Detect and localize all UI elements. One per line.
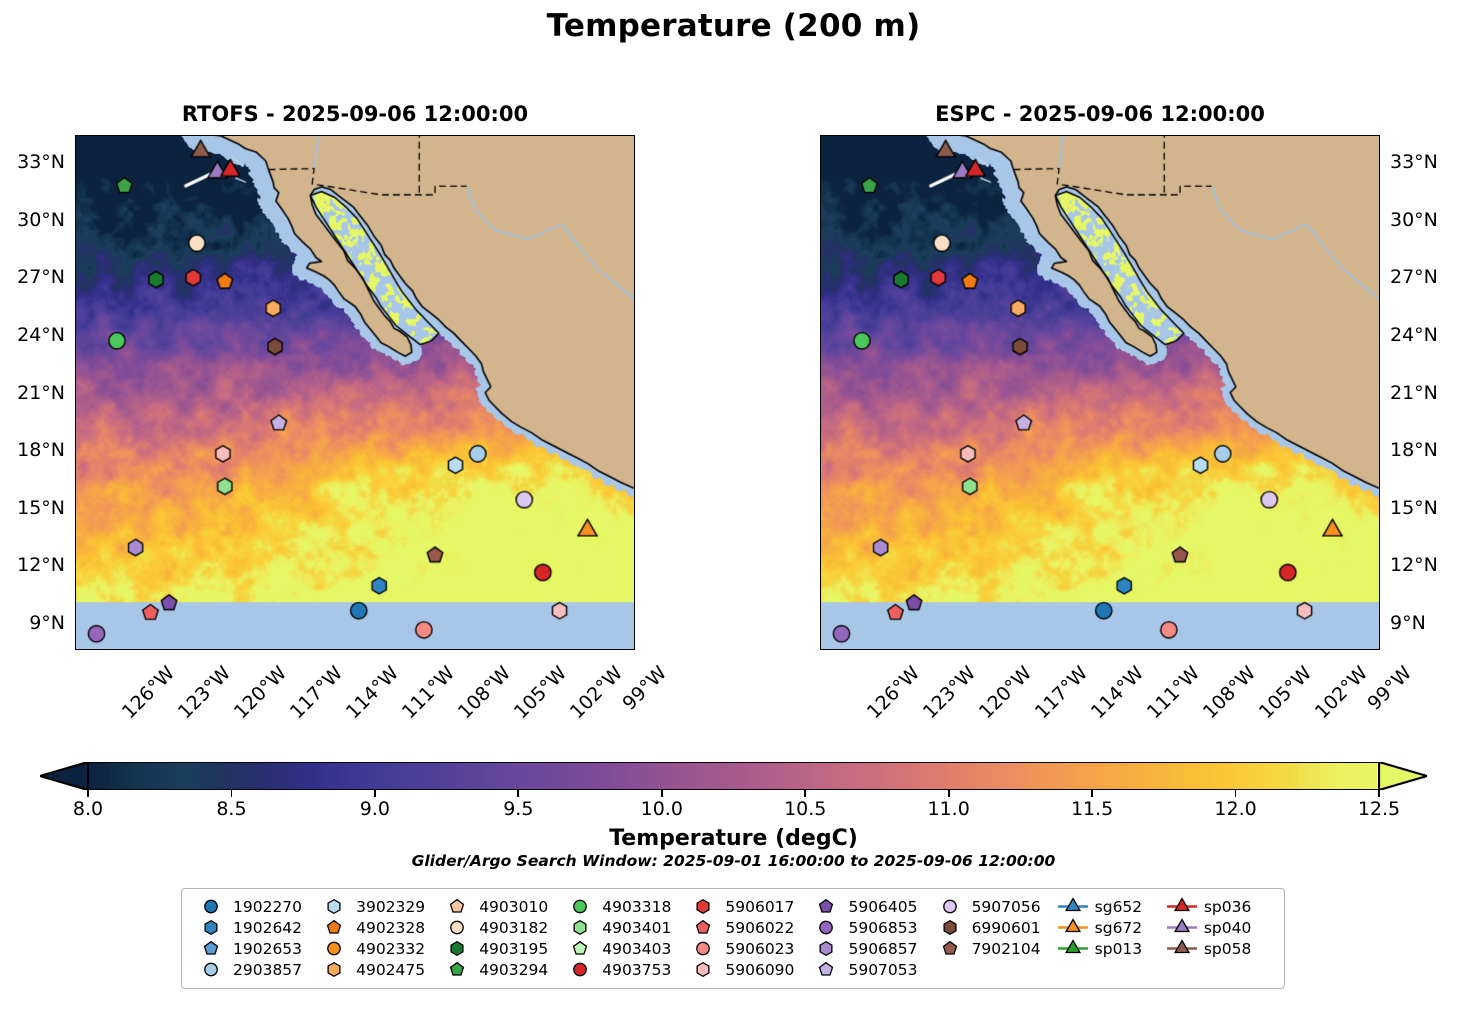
ytick-minor [634, 297, 635, 298]
ytick-major [1379, 393, 1380, 395]
ytick-major [634, 277, 635, 279]
circle-marker-icon [563, 959, 597, 980]
ytick-major [820, 623, 821, 625]
xtick-minor [477, 649, 478, 650]
xtick-minor [1035, 649, 1036, 650]
legend-item-5906017[interactable]: 5906017 [686, 896, 809, 917]
ytick-minor [820, 316, 821, 317]
colorbar: 8.08.59.09.510.010.511.011.512.012.5 Tem… [0, 762, 1467, 882]
xtick-minor [197, 649, 198, 650]
legend-item-5906853[interactable]: 5906853 [809, 917, 932, 938]
hexagon-marker-icon [686, 959, 720, 980]
legend-column: 3902329490232849023324902475 [317, 896, 440, 980]
legend-item-4903294[interactable]: 4903294 [440, 959, 563, 980]
ytick-label: 15°N [1390, 497, 1438, 519]
ytick-minor [820, 489, 821, 490]
legend-grid: 1902270190264219026532903857390232949023… [194, 896, 1274, 980]
ytick-minor [75, 374, 76, 375]
colorbar-tick-label: 11.5 [1071, 798, 1113, 820]
xtick-major [607, 649, 609, 650]
legend-label: 4902328 [351, 919, 425, 937]
map-espc-canvas [821, 136, 1379, 649]
xtick-major [439, 649, 441, 650]
triangle-line-marker-icon [1056, 896, 1090, 917]
xtick-minor [942, 649, 943, 650]
xtick-label: 105°W [1255, 662, 1316, 723]
ytick-major [1379, 277, 1380, 279]
xtick-major [159, 649, 161, 650]
triangle-line-marker-icon [1056, 938, 1090, 959]
triangle-line-marker-icon [1165, 896, 1199, 917]
ytick-minor [634, 316, 635, 317]
legend-column: 1902270190264219026532903857 [194, 896, 317, 980]
ytick-major [820, 508, 821, 510]
ytick-minor [75, 143, 76, 144]
ytick-major [75, 335, 76, 337]
legend-item-5906405[interactable]: 5906405 [809, 896, 932, 917]
legend-label: sp013 [1090, 940, 1143, 958]
legend-item-4902328[interactable]: 4902328 [317, 917, 440, 938]
legend-item-4902475[interactable]: 4902475 [317, 959, 440, 980]
map-rtofs-canvas [76, 136, 634, 649]
ytick-label: 12°N [1390, 554, 1438, 576]
ytick-major [820, 335, 821, 337]
legend-label: 4903195 [474, 940, 548, 958]
xtick-minor [1203, 649, 1204, 650]
colorbar-tick [804, 790, 806, 797]
hexagon-marker-icon [563, 917, 597, 938]
ytick-label: 33°N [1390, 151, 1438, 173]
pentagon-marker-icon [440, 959, 474, 980]
ytick-major [1379, 220, 1380, 222]
ytick-major [820, 220, 821, 222]
legend-label: 4902475 [351, 961, 425, 979]
xtick-minor [309, 649, 310, 650]
legend-label: 5906090 [720, 961, 794, 979]
hexagon-marker-icon [317, 896, 351, 917]
legend-label: 4903010 [474, 898, 548, 916]
ytick-major [75, 277, 76, 279]
ytick-minor [820, 527, 821, 528]
ytick-label: 27°N [1390, 266, 1438, 288]
xtick-minor [998, 649, 999, 650]
ytick-major [634, 220, 635, 222]
ytick-label: 24°N [17, 324, 65, 346]
ytick-minor [75, 181, 76, 182]
legend-item-5907053[interactable]: 5907053 [809, 959, 932, 980]
ytick-label: 21°N [1390, 382, 1438, 404]
xtick-minor [122, 649, 123, 650]
hexagon-marker-icon [194, 917, 228, 938]
ytick-label: 18°N [1390, 439, 1438, 461]
legend-column: 4903318490340149034034903753 [563, 896, 686, 980]
legend-label: 4903318 [597, 898, 671, 916]
xtick-minor [85, 649, 86, 650]
ytick-major [1379, 162, 1380, 164]
ytick-label: 9°N [29, 612, 65, 634]
xtick-minor [290, 649, 291, 650]
panel-espc-title: ESPC - 2025-09-06 12:00:00 [820, 102, 1380, 126]
xtick-major [271, 649, 273, 650]
ytick-minor [634, 470, 635, 471]
xtick-minor [1278, 649, 1279, 650]
colorbar-tick [1235, 790, 1237, 797]
ytick-minor [75, 604, 76, 605]
ytick-major [820, 393, 821, 395]
ytick-minor [75, 316, 76, 317]
legend-item-sp013[interactable]: sp013 [1056, 938, 1165, 959]
pentagon-marker-icon [317, 917, 351, 938]
xtick-major [383, 649, 385, 650]
xtick-label: 120°W [230, 662, 291, 723]
pentagon-marker-icon [809, 896, 843, 917]
xtick-minor [830, 649, 831, 650]
xtick-major [327, 649, 329, 650]
legend-label: 6990601 [967, 919, 1041, 937]
ytick-minor [75, 412, 76, 413]
ytick-minor [634, 431, 635, 432]
xtick-minor [1110, 649, 1111, 650]
triangle-line-marker-icon [1056, 917, 1090, 938]
legend-item-1902270[interactable]: 1902270 [194, 896, 317, 917]
pentagon-marker-icon [933, 938, 967, 959]
legend-item-5906857[interactable]: 5906857 [809, 938, 932, 959]
ytick-minor [634, 354, 635, 355]
ytick-label: 9°N [1390, 612, 1426, 634]
legend-item-4903753[interactable]: 4903753 [563, 959, 686, 980]
legend-label: 4903401 [597, 919, 671, 937]
figure-title: Temperature (200 m) [0, 8, 1467, 44]
pentagon-marker-icon [686, 917, 720, 938]
ytick-label: 15°N [17, 497, 65, 519]
legend-label: 3902329 [351, 898, 425, 916]
ytick-label: 30°N [1390, 209, 1438, 231]
legend-label: 5906857 [843, 940, 917, 958]
colorbar-tick-label: 10.5 [784, 798, 826, 820]
xtick-minor [1091, 649, 1092, 650]
ytick-minor [1379, 181, 1380, 182]
ytick-major [1379, 450, 1380, 452]
xtick-minor [514, 649, 515, 650]
xtick-label: 99°W [1363, 662, 1416, 715]
legend-item-4903182[interactable]: 4903182 [440, 917, 563, 938]
legend-label: 5906022 [720, 919, 794, 937]
xtick-minor [346, 649, 347, 650]
legend-label: 4903753 [597, 961, 671, 979]
colorbar-extend-low-icon [40, 762, 88, 790]
ytick-minor [75, 239, 76, 240]
legend-label: 5906023 [720, 940, 794, 958]
xtick-minor [1147, 649, 1148, 650]
map-rtofs[interactable] [75, 135, 635, 650]
legend-label: 4903294 [474, 961, 548, 979]
ytick-minor [75, 585, 76, 586]
ytick-minor [820, 181, 821, 182]
ytick-minor [75, 354, 76, 355]
xtick-label: 120°W [975, 662, 1036, 723]
xtick-minor [1054, 649, 1055, 650]
colorbar-tick-label: 12.0 [1214, 798, 1256, 820]
ytick-minor [820, 643, 821, 644]
ytick-label: 21°N [17, 382, 65, 404]
ytick-minor [634, 489, 635, 490]
ytick-minor [75, 527, 76, 528]
ytick-major [634, 162, 635, 164]
ytick-major [1379, 566, 1380, 568]
legend-label: 5907056 [967, 898, 1041, 916]
xtick-major [1072, 649, 1074, 650]
xtick-major [1016, 649, 1018, 650]
ytick-minor [1379, 431, 1380, 432]
hexagon-marker-icon [440, 938, 474, 959]
ytick-minor [1379, 489, 1380, 490]
ytick-minor [820, 258, 821, 259]
circle-marker-icon [933, 896, 967, 917]
ytick-major [634, 393, 635, 395]
ytick-major [75, 393, 76, 395]
colorbar-tick [374, 790, 376, 797]
xtick-minor [1315, 649, 1316, 650]
xtick-major [215, 649, 217, 650]
hexagon-marker-icon [317, 959, 351, 980]
xtick-minor [626, 649, 627, 650]
legend-item-3902329[interactable]: 3902329 [317, 896, 440, 917]
ytick-minor [820, 239, 821, 240]
hexagon-marker-icon [809, 938, 843, 959]
legend-item-5906023[interactable]: 5906023 [686, 938, 809, 959]
legend-label: sp040 [1199, 919, 1252, 937]
legend-item-4903403[interactable]: 4903403 [563, 938, 686, 959]
legend-label: 5906853 [843, 919, 917, 937]
legend-item-7902104[interactable]: 7902104 [933, 938, 1056, 959]
ytick-minor [1379, 643, 1380, 644]
legend-item-4902332[interactable]: 4902332 [317, 938, 440, 959]
legend-label: sp058 [1199, 940, 1252, 958]
ytick-major [1379, 335, 1380, 337]
ytick-minor [634, 527, 635, 528]
legend-column: 5906405590685359068575907053 [809, 896, 932, 980]
xtick-label: 99°W [618, 662, 671, 715]
triangle-line-marker-icon [1165, 938, 1199, 959]
ytick-minor [75, 201, 76, 202]
ytick-minor [820, 470, 821, 471]
xtick-minor [1371, 649, 1372, 650]
xtick-minor [421, 649, 422, 650]
xtick-label: 126°W [118, 662, 179, 723]
xtick-minor [234, 649, 235, 650]
legend-item-1902653[interactable]: 1902653 [194, 938, 317, 959]
pentagon-marker-icon [563, 938, 597, 959]
ytick-minor [1379, 143, 1380, 144]
xtick-minor [1222, 649, 1223, 650]
xtick-minor [1166, 649, 1167, 650]
ytick-label: 30°N [17, 209, 65, 231]
xtick-minor [458, 649, 459, 650]
legend-item-4903401[interactable]: 4903401 [563, 917, 686, 938]
colorbar-label: Temperature (degC) [0, 826, 1467, 851]
map-espc[interactable] [820, 135, 1380, 650]
search-window-text: Glider/Argo Search Window: 2025-09-01 16… [0, 852, 1467, 870]
legend-label: 4902332 [351, 940, 425, 958]
ytick-minor [820, 604, 821, 605]
legend-item-2903857[interactable]: 2903857 [194, 959, 317, 980]
legend-item-4903318[interactable]: 4903318 [563, 896, 686, 917]
colorbar-tick [661, 790, 663, 797]
legend-label: 5906405 [843, 898, 917, 916]
legend-item-sp040[interactable]: sp040 [1165, 917, 1274, 938]
xtick-label: 108°W [1199, 662, 1260, 723]
ytick-minor [820, 354, 821, 355]
xtick-minor [402, 649, 403, 650]
ytick-minor [634, 181, 635, 182]
ytick-minor [820, 201, 821, 202]
legend-label: 1902642 [228, 919, 302, 937]
panel-espc: ESPC - 2025-09-06 12:00:00 126°W123°W120… [820, 135, 1380, 650]
xtick-minor [867, 649, 868, 650]
xtick-minor [570, 649, 571, 650]
ytick-major [820, 566, 821, 568]
legend-item-sg652[interactable]: sg652 [1056, 896, 1165, 917]
colorbar-tick-label: 11.0 [928, 798, 970, 820]
ytick-minor [634, 201, 635, 202]
ytick-minor [634, 412, 635, 413]
ytick-minor [634, 258, 635, 259]
legend-item-4903195[interactable]: 4903195 [440, 938, 563, 959]
legend-column: sg652sg672sp013 [1056, 896, 1165, 980]
legend-item-sp058[interactable]: sp058 [1165, 938, 1274, 959]
ytick-minor [75, 258, 76, 259]
circle-marker-icon [194, 896, 228, 917]
ytick-minor [1379, 239, 1380, 240]
ytick-label: 27°N [17, 266, 65, 288]
xtick-label: 105°W [510, 662, 571, 723]
circle-marker-icon [440, 917, 474, 938]
legend-label: 1902653 [228, 940, 302, 958]
colorbar-tick-label: 8.0 [73, 798, 103, 820]
xtick-label: 102°W [1311, 662, 1372, 723]
legend-column: 4903010490318249031954903294 [440, 896, 563, 980]
ytick-minor [634, 547, 635, 548]
legend-label: 4903403 [597, 940, 671, 958]
ytick-minor [1379, 547, 1380, 548]
legend-label: sg652 [1090, 898, 1143, 916]
legend-label: 1902270 [228, 898, 302, 916]
legend-label: sp036 [1199, 898, 1252, 916]
xtick-label: 111°W [398, 662, 459, 723]
colorbar-tick-label: 10.0 [641, 798, 683, 820]
ytick-minor [820, 585, 821, 586]
xtick-minor [886, 649, 887, 650]
legend-item-1902642[interactable]: 1902642 [194, 917, 317, 938]
ytick-minor [1379, 316, 1380, 317]
ytick-minor [820, 143, 821, 144]
xtick-major [495, 649, 497, 650]
circle-marker-icon [686, 938, 720, 959]
legend-label: 5907053 [843, 961, 917, 979]
colorbar-gradient [88, 762, 1379, 790]
xtick-label: 108°W [454, 662, 515, 723]
pentagon-marker-icon [440, 896, 474, 917]
legend-label: 2903857 [228, 961, 302, 979]
xtick-minor [979, 649, 980, 650]
ytick-minor [75, 470, 76, 471]
hexagon-marker-icon [933, 917, 967, 938]
ytick-major [75, 508, 76, 510]
triangle-line-marker-icon [1165, 917, 1199, 938]
colorbar-extend-high-icon [1379, 762, 1427, 790]
legend-column: sp036sp040sp058 [1165, 896, 1274, 980]
xtick-label: 126°W [863, 662, 924, 723]
ytick-minor [820, 431, 821, 432]
pentagon-marker-icon [809, 959, 843, 980]
colorbar-tick [948, 790, 950, 797]
ytick-minor [820, 412, 821, 413]
ytick-major [75, 566, 76, 568]
xtick-major [1352, 649, 1354, 650]
ytick-major [75, 623, 76, 625]
circle-marker-icon [563, 896, 597, 917]
ytick-major [75, 220, 76, 222]
ytick-minor [634, 643, 635, 644]
ytick-minor [1379, 585, 1380, 586]
ytick-minor [75, 489, 76, 490]
ytick-label: 18°N [17, 439, 65, 461]
ytick-major [1379, 623, 1380, 625]
xtick-label: 114°W [342, 662, 403, 723]
ytick-minor [820, 374, 821, 375]
xtick-minor [1334, 649, 1335, 650]
colorbar-tick-label: 9.0 [360, 798, 390, 820]
ytick-minor [634, 604, 635, 605]
legend-item-sg672[interactable]: sg672 [1056, 917, 1165, 938]
ytick-minor [1379, 297, 1380, 298]
legend-label: 5906017 [720, 898, 794, 916]
circle-marker-icon [809, 917, 843, 938]
legend-item-6990601[interactable]: 6990601 [933, 917, 1056, 938]
legend: 1902270190264219026532903857390232949023… [181, 888, 1285, 989]
ytick-major [634, 450, 635, 452]
xtick-minor [178, 649, 179, 650]
xtick-minor [533, 649, 534, 650]
ytick-minor [820, 297, 821, 298]
ytick-minor [75, 643, 76, 644]
ytick-minor [634, 239, 635, 240]
ytick-minor [634, 143, 635, 144]
ytick-major [634, 623, 635, 625]
legend-item-4903010[interactable]: 4903010 [440, 896, 563, 917]
xtick-minor [923, 649, 924, 650]
circle-marker-icon [194, 959, 228, 980]
pentagon-marker-icon [194, 938, 228, 959]
xtick-label: 123°W [919, 662, 980, 723]
colorbar-tick-label: 9.5 [503, 798, 533, 820]
colorbar-tick-label: 12.5 [1358, 798, 1400, 820]
legend-item-5906090[interactable]: 5906090 [686, 959, 809, 980]
ytick-major [634, 508, 635, 510]
ytick-minor [75, 297, 76, 298]
legend-item-sp036[interactable]: sp036 [1165, 896, 1274, 917]
xtick-major [1240, 649, 1242, 650]
ytick-major [820, 162, 821, 164]
legend-label: 7902104 [967, 940, 1041, 958]
legend-label: sg672 [1090, 919, 1143, 937]
ytick-minor [75, 547, 76, 548]
legend-label: 4903182 [474, 919, 548, 937]
ytick-minor [75, 431, 76, 432]
legend-item-5907056[interactable]: 5907056 [933, 896, 1056, 917]
ytick-minor [1379, 470, 1380, 471]
legend-item-5906022[interactable]: 5906022 [686, 917, 809, 938]
